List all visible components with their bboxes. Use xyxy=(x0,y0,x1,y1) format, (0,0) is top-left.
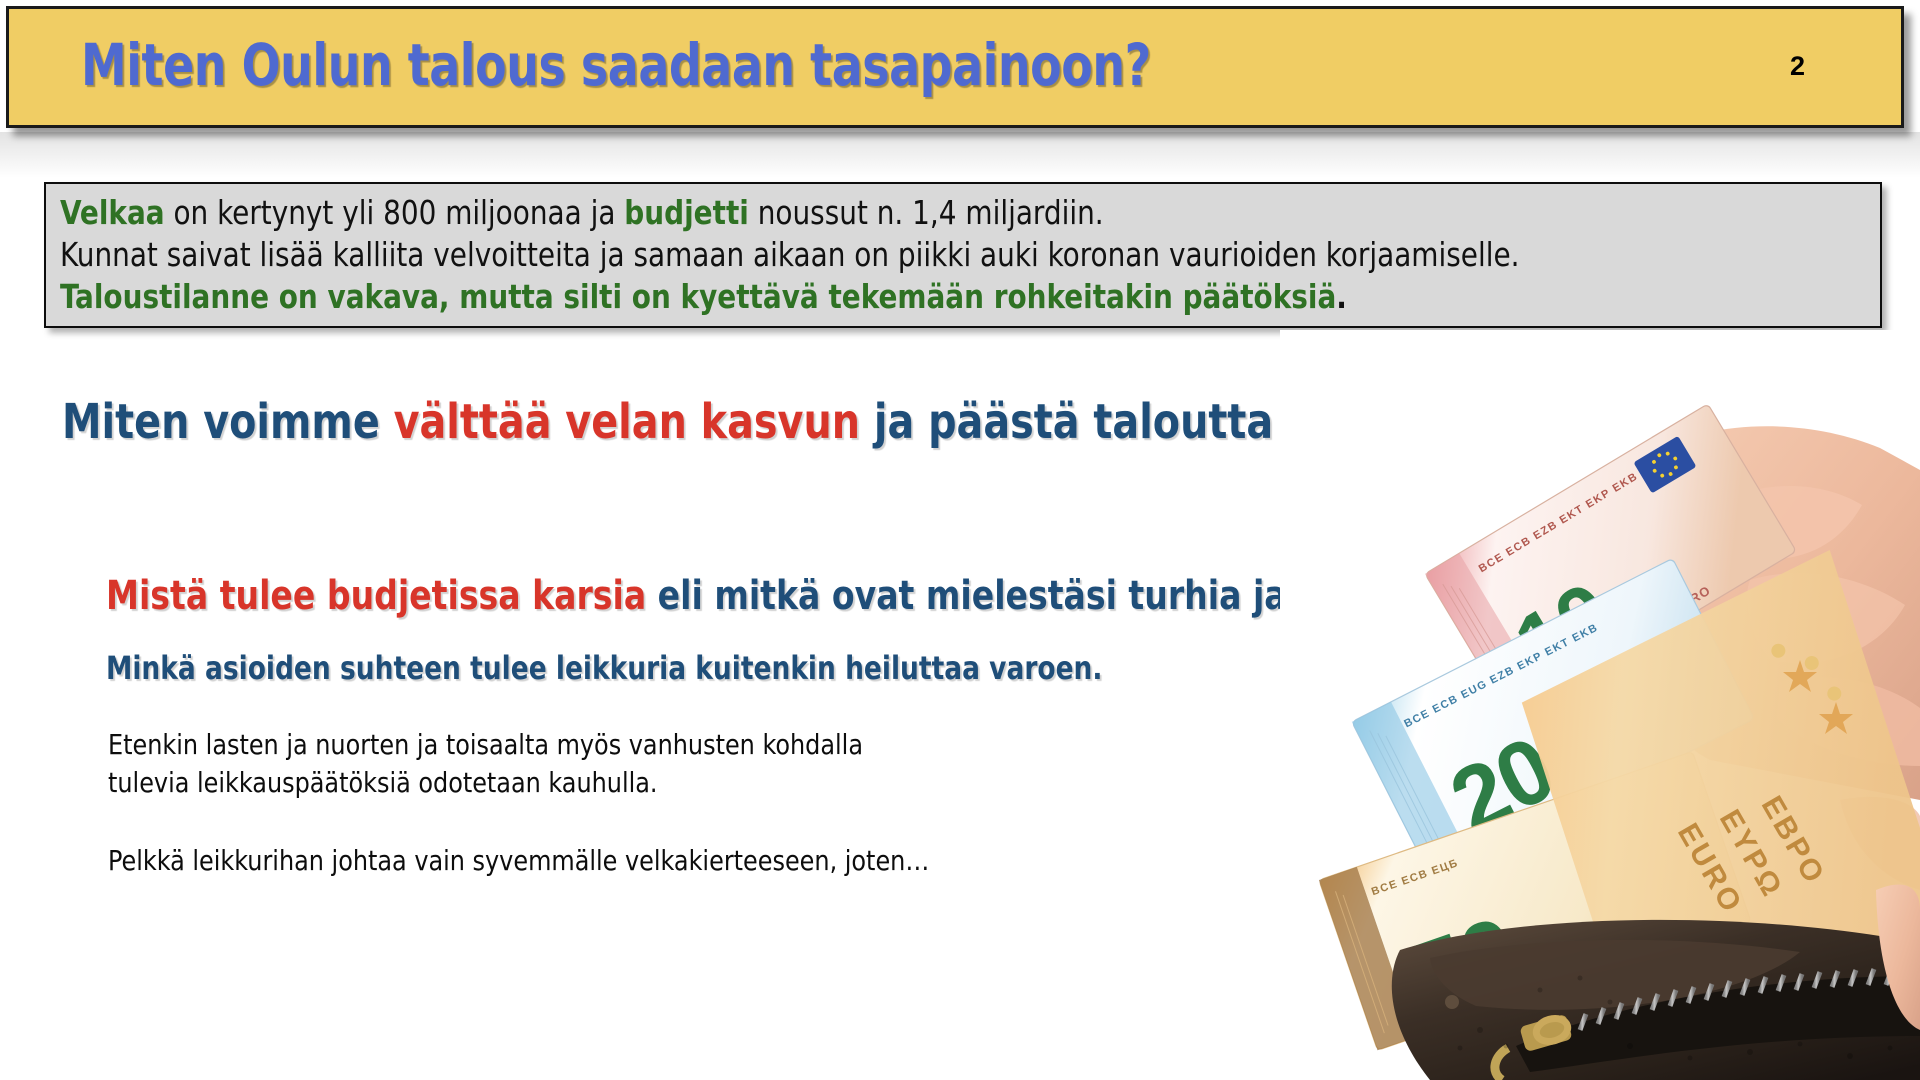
banknote-50: 50 BCE ECB EЦБ xyxy=(1319,751,1751,1050)
svg-text:EURO: EURO xyxy=(1670,582,1714,617)
info-callout-box: Velkaa on kertynyt yli 800 miljoonaa ja … xyxy=(44,182,1882,328)
banknote-10: 10 BCE ECB EZB EKT EKP EKB EURO xyxy=(1425,404,1796,721)
page-title: Miten Oulun talous saadaan tasapainoon? xyxy=(81,31,1151,99)
svg-text:BCE ECB EЦБ: BCE ECB EЦБ xyxy=(1370,857,1460,898)
slide-canvas: Miten Oulun talous saadaan tasapainoon? … xyxy=(0,0,1920,1080)
info-line-1-text-b: noussut n. 1,4 miljardiin. xyxy=(749,193,1104,232)
heading-main-highlight: välttää velan kasvun xyxy=(394,394,860,450)
svg-text:ЕВРО: ЕВРО xyxy=(1755,791,1832,891)
heading-main: Miten voimme välttää velan kasvun ja pää… xyxy=(62,396,1845,448)
page-number: 2 xyxy=(1790,51,1805,82)
info-emphasis-budjetti: budjetti xyxy=(624,193,749,232)
heading-sub-highlight: Mistä tulee budjetissa karsia xyxy=(106,573,646,619)
svg-text:20: 20 xyxy=(1435,718,1569,854)
leather-wallet xyxy=(1392,920,1920,1080)
paragraph-one: Etenkin lasten ja nuorten ja toisaalta m… xyxy=(108,726,863,802)
banknote-stars xyxy=(1783,660,1853,734)
svg-text:50: 50 xyxy=(1399,897,1528,1029)
paragraph-one-line-2: tulevia leikkauspäätöksiä odotetaan kauh… xyxy=(108,764,863,802)
svg-text:EURO: EURO xyxy=(1671,818,1749,920)
banknote-back-orange: EURO ΕΥΡΩ ЕВРО xyxy=(1506,550,1920,1045)
slide-title-bar: Miten Oulun talous saadaan tasapainoon? … xyxy=(6,6,1904,128)
hand-shape xyxy=(1631,426,1920,890)
heading-main-part-3: ja päästä taloutta tasapainottavalle ura… xyxy=(860,394,1845,450)
svg-text:BCE ECB EUG EZB EKP EKT EKB: BCE ECB EUG EZB EKP EKT EKB xyxy=(1402,622,1600,731)
heading-sub: Mistä tulee budjetissa karsia eli mitkä … xyxy=(106,574,1649,618)
zipper-pull xyxy=(1495,1014,1573,1080)
info-line-3-text: Taloustilanne on vakava, mutta silti on … xyxy=(60,277,1336,316)
svg-text:ΕΥΡΩ: ΕΥΡΩ xyxy=(1713,804,1790,904)
paragraph-two: Pelkkä leikkurihan johtaa vain syvemmäll… xyxy=(108,842,929,880)
info-emphasis-velkaa: Velkaa xyxy=(60,193,165,232)
info-line-3: Taloustilanne on vakava, mutta silti on … xyxy=(60,276,1760,318)
info-line-3-terminator: . xyxy=(1336,277,1347,316)
thumb-shape xyxy=(1876,884,1920,1030)
heading-sub-secondary: Minkä asioiden suhteen tulee leikkuria k… xyxy=(106,650,1102,686)
info-line-1: Velkaa on kertynyt yli 800 miljoonaa ja … xyxy=(60,192,1760,234)
info-line-2: Kunnat saivat lisää kalliita velvoitteit… xyxy=(60,234,1760,276)
info-line-1-text-a: on kertynyt yli 800 miljoonaa ja xyxy=(165,193,625,232)
heading-main-part-1: Miten voimme xyxy=(62,394,394,450)
paragraph-one-line-1: Etenkin lasten ja nuorten ja toisaalta m… xyxy=(108,726,863,764)
background-gradient-band xyxy=(0,132,1920,178)
svg-text:BCE ECB EZB EKT EKP EKB: BCE ECB EZB EKT EKP EKB xyxy=(1477,470,1641,575)
heading-sub-part-2: eli mitkä ovat mielestäsi turhia ja hait… xyxy=(646,573,1648,619)
